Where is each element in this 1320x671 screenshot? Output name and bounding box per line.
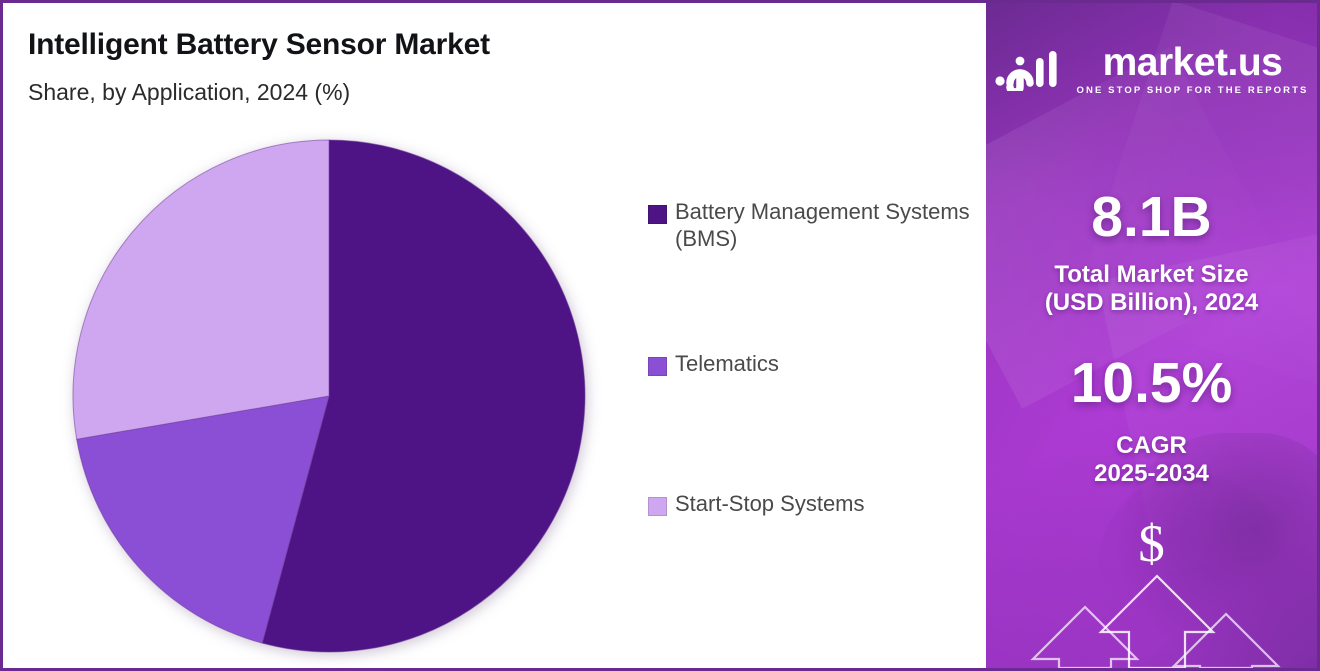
cagr-caption-line1: CAGR [986,432,1317,460]
total-market-size-caption-line1: Total Market Size [986,261,1317,289]
legend-item-battery-management-systems[interactable]: Battery Management Systems (BMS) [648,199,978,253]
up-arrow-right-icon [1174,614,1278,668]
cagr-caption: CAGR 2025-2034 [986,432,1317,488]
legend-item-label-1: Telematics [675,351,779,378]
pie-chart [69,136,589,656]
logo-text-block: market.us ONE STOP SHOP FOR THE REPORTS [1077,43,1309,96]
chart-subtitle: Share, by Application, 2024 (%) [28,79,350,106]
market-us-logo[interactable]: market.us ONE STOP SHOP FOR THE REPORTS [986,43,1317,96]
growth-arrows-graphic: $ [986,518,1317,668]
up-arrow-center-icon [1101,576,1213,668]
pie-slice-group [73,140,585,652]
market-us-signal-mark-icon [995,49,1067,91]
pie-slice-2[interactable] [73,140,329,439]
legend-item-start-stop-systems[interactable]: Start-Stop Systems [648,491,978,518]
legend-item-label-0: Battery Management Systems (BMS) [675,199,978,253]
infographic-frame: Intelligent Battery Sensor Market Share,… [0,0,1320,671]
total-market-size-caption: Total Market Size (USD Billion), 2024 [986,261,1317,317]
chart-panel: Intelligent Battery Sensor Market Share,… [3,3,986,668]
cagr-caption-line2: 2025-2034 [986,460,1317,488]
legend-item-label-2: Start-Stop Systems [675,491,865,518]
total-market-size-value: 8.1B [986,189,1317,246]
dollar-sign-icon: $ [986,518,1317,571]
legend-swatch-icon-1 [648,357,667,376]
legend-swatch-icon-0 [648,205,667,224]
total-market-size-caption-line2: (USD Billion), 2024 [986,289,1317,317]
up-arrow-left-icon [1033,607,1137,668]
brand-stats-panel: market.us ONE STOP SHOP FOR THE REPORTS … [986,3,1317,668]
logo-tagline: ONE STOP SHOP FOR THE REPORTS [1077,85,1309,96]
legend-item-telematics[interactable]: Telematics [648,351,978,378]
legend-swatch-icon-2 [648,497,667,516]
logo-wordmark: market.us [1103,43,1283,82]
pie-chart-svg [69,136,589,656]
page-title: Intelligent Battery Sensor Market [28,28,490,62]
cagr-value: 10.5% [986,355,1317,412]
